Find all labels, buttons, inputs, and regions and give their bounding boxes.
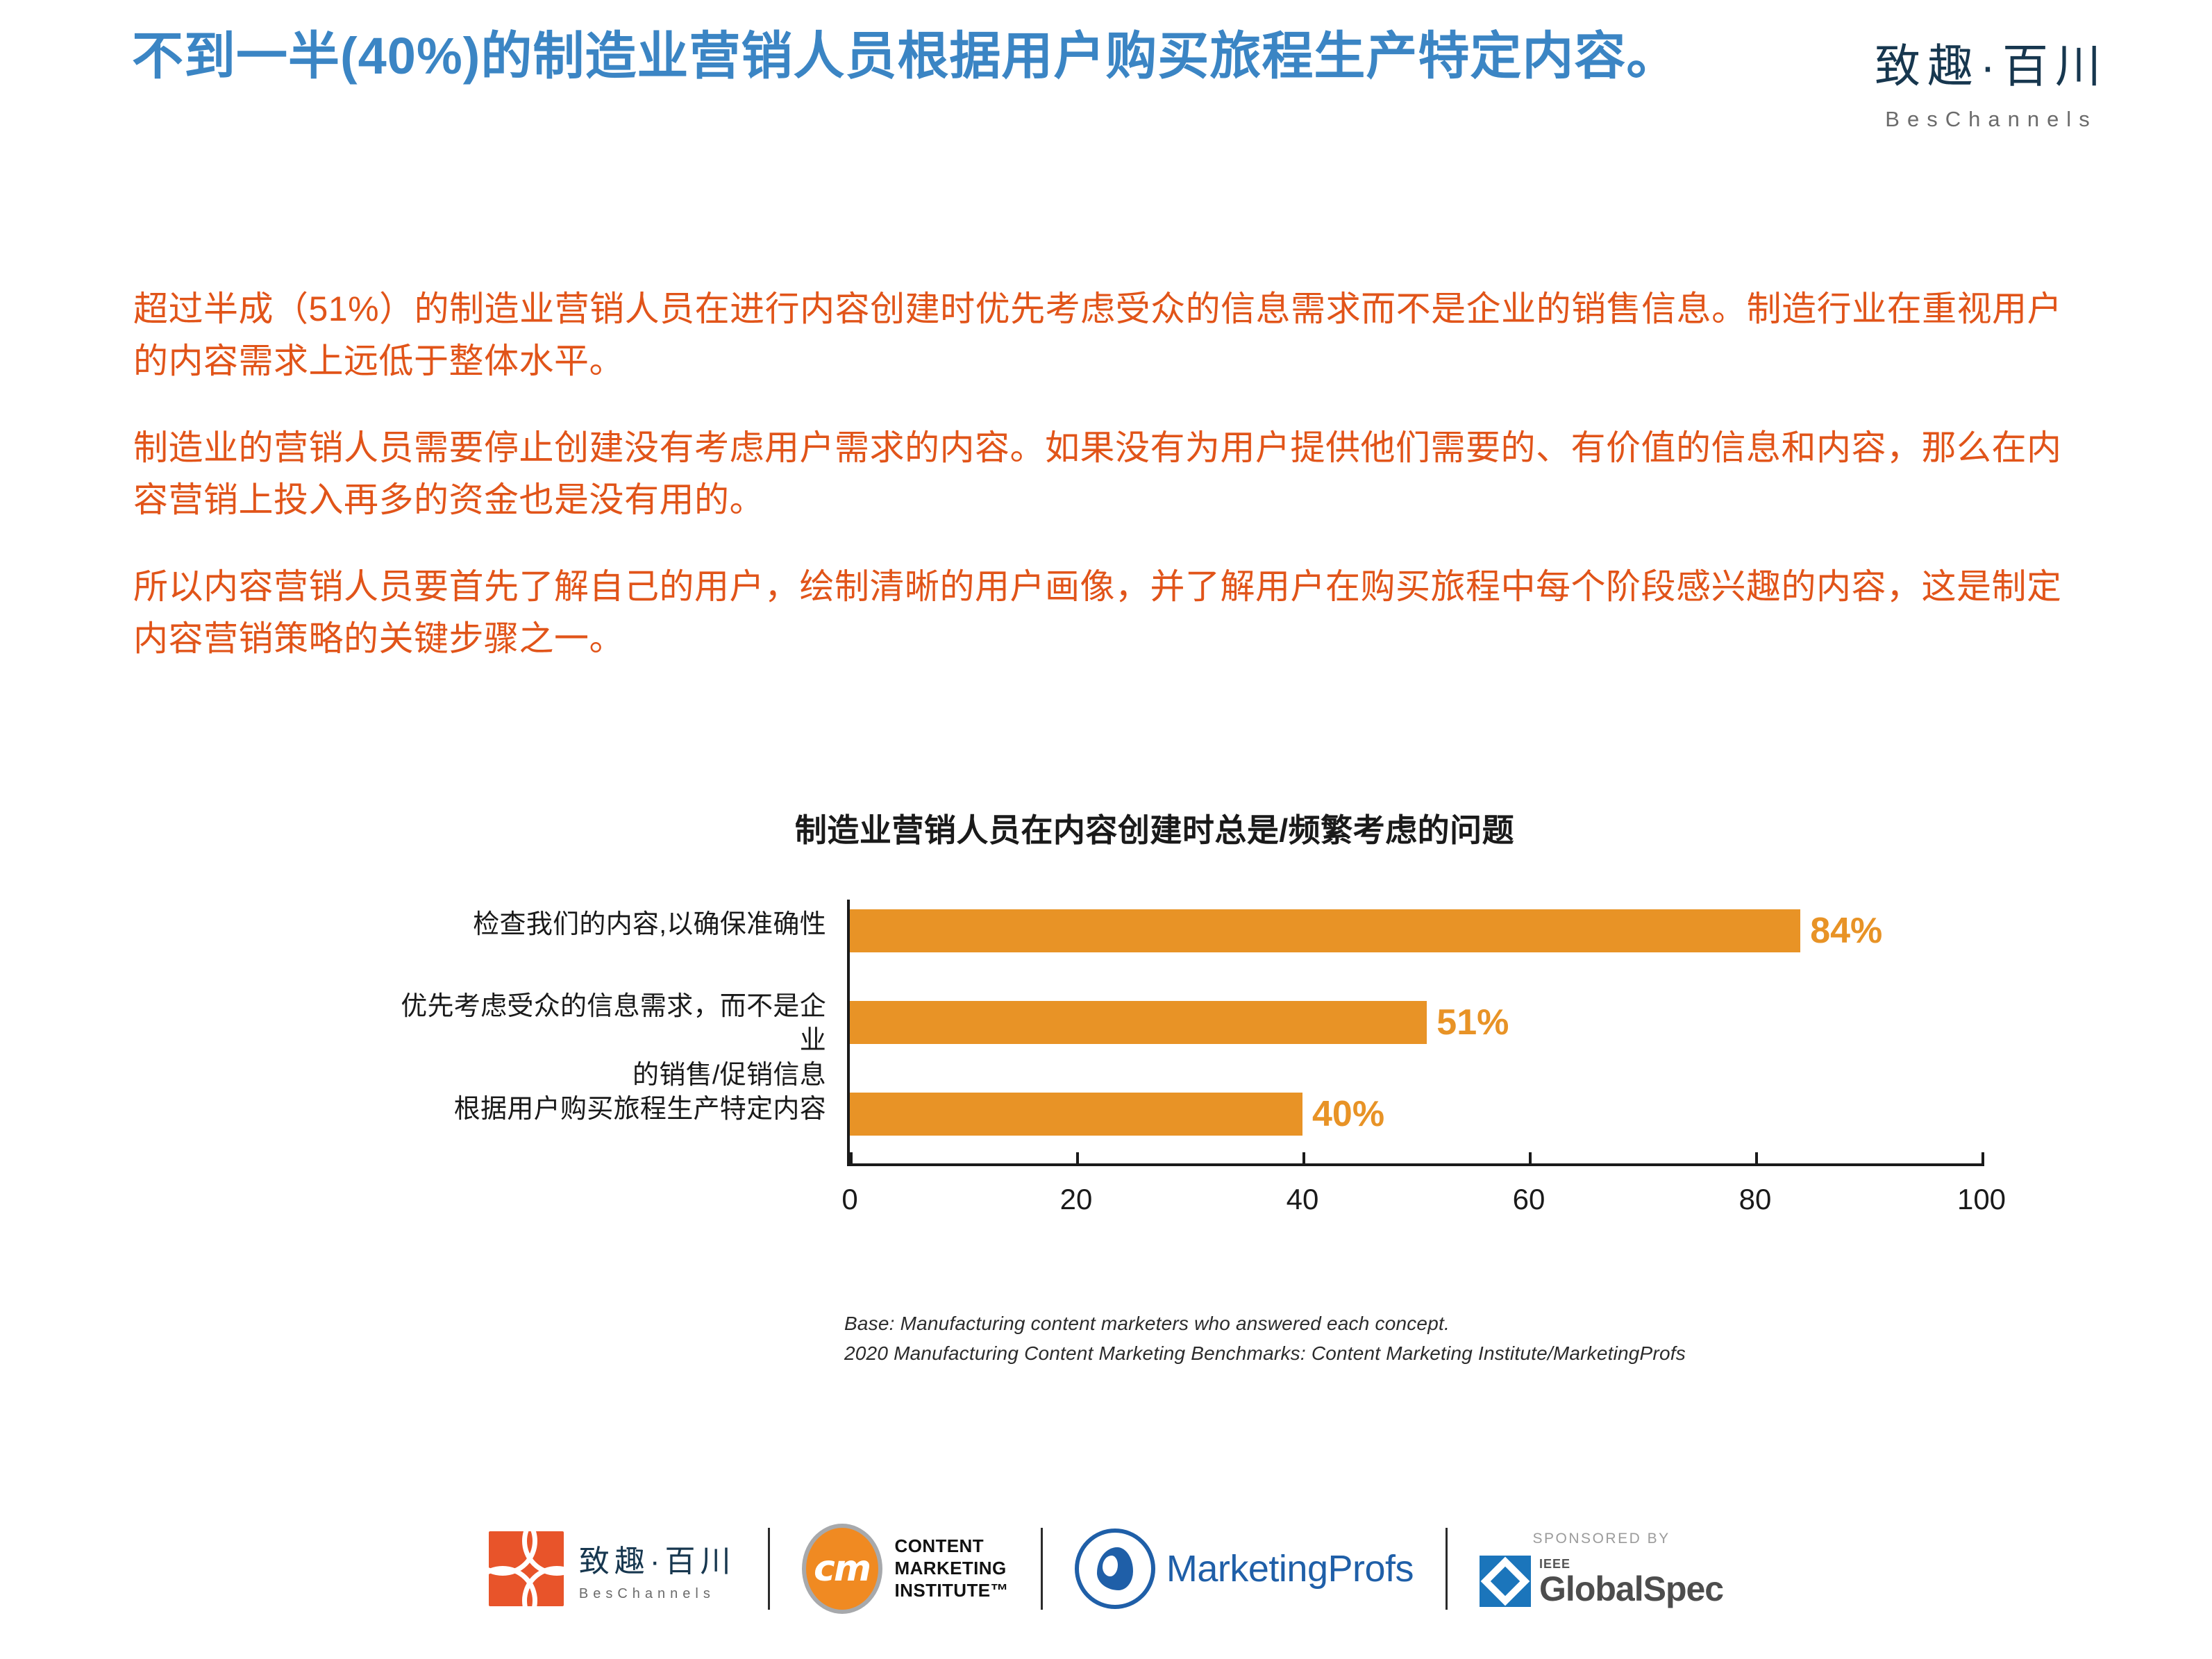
beschannels-logo-en: BesChannels (579, 1586, 736, 1602)
chart-bar-value: 51% (1436, 1001, 1509, 1044)
chart-x-tick (1302, 1152, 1305, 1166)
logo-content-marketing-institute: cm CONTENT MARKETING INSTITUTE™ (802, 1524, 1009, 1614)
chart-bar-value: 84% (1810, 909, 1882, 952)
chart-bar (850, 909, 1800, 952)
chart-category-label: 检查我们的内容,以确保准确性 (473, 908, 826, 942)
brand-logo: 致趣·百川 BesChannels (1811, 29, 2172, 132)
chart-category-label: 根据用户购买旅程生产特定内容 (454, 1093, 826, 1127)
body-copy: 超过半成（51%）的制造业营销人员在进行内容创建时优先考虑受众的信息需求而不是企… (133, 249, 2084, 665)
chart-bar-row: 51% (850, 1001, 1509, 1044)
chart-x-tick-label: 0 (841, 1183, 857, 1216)
cmi-line-2: MARKETING (895, 1558, 1009, 1580)
page-title: 不到一半(40%)的制造业营销人员根据用户购买旅程生产特定内容。 (132, 24, 1798, 90)
chart-x-tick-label: 80 (1739, 1183, 1772, 1216)
page-header: 不到一半(40%)的制造业营销人员根据用户购买旅程生产特定内容。 致趣·百川 B… (0, 0, 2212, 208)
chart-footnote: Base: Manufacturing content marketers wh… (844, 1308, 1686, 1369)
chart-category-labels: 检查我们的内容,以确保准确性 优先考虑受众的信息需求，而不是企业的销售/促销信息… (389, 900, 840, 1163)
chart-bar-row: 40% (850, 1093, 1384, 1136)
chart-bar (850, 1001, 1427, 1044)
footer-divider (768, 1528, 770, 1610)
brand-logo-cn: 致趣·百川 (1811, 29, 2172, 96)
beschannels-logo-cn: 致趣·百川 (579, 1536, 736, 1581)
footer-divider (1446, 1528, 1448, 1610)
bar-chart: 制造业营销人员在内容创建时总是/频繁考虑的问题 检查我们的内容,以确保准确性 优… (0, 805, 2212, 1198)
footnote-line-2: 2020 Manufacturing Content Marketing Ben… (844, 1338, 1686, 1368)
marketingprofs-label: MarketingProfs (1166, 1547, 1414, 1590)
logo-beschannels: 致趣·百川 BesChannels (489, 1531, 736, 1606)
cmi-line-1: CONTENT (895, 1535, 1009, 1558)
marketingprofs-bird-icon (1075, 1529, 1155, 1609)
logo-marketingprofs: MarketingProfs (1075, 1529, 1414, 1609)
chart-x-tick-label: 60 (1513, 1183, 1545, 1216)
paragraph-2: 制造业的营销人员需要停止创建没有考虑用户需求的内容。如果没有为用户提供他们需要的… (133, 422, 2084, 526)
chart-bar-value: 40% (1312, 1093, 1384, 1136)
chart-x-tick-label: 20 (1060, 1183, 1093, 1216)
chart-x-tick (1981, 1152, 1984, 1166)
chart-title: 制造业营销人员在内容创建时总是/频繁考虑的问题 (97, 805, 2212, 851)
footer-divider (1041, 1528, 1043, 1610)
cmi-line-3: INSTITUTE™ (895, 1580, 1009, 1602)
chart-bar-row: 84% (850, 909, 1882, 952)
paragraph-3: 所以内容营销人员要首先了解自己的用户，绘制清晰的用户画像，并了解用户在购买旅程中… (133, 561, 2084, 665)
chart-x-tick (1076, 1152, 1079, 1166)
paragraph-1: 超过半成（51%）的制造业营销人员在进行内容创建时优先考虑受众的信息需求而不是企… (133, 283, 2084, 387)
chart-category-label: 优先考虑受众的信息需求，而不是企业的销售/促销信息 (389, 990, 826, 1093)
chart-x-tick-label: 40 (1287, 1183, 1319, 1216)
globalspec-label: GlobalSpec (1539, 1572, 1723, 1606)
footer-logos: 致趣·百川 BesChannels cm CONTENT MARKETING I… (0, 1503, 2212, 1635)
sponsored-by-label: SPONSORED BY (1480, 1531, 1723, 1547)
chart-plot-area: 检查我们的内容,以确保准确性 优先考虑受众的信息需求，而不是企业的销售/促销信息… (389, 900, 2055, 1198)
globalspec-diamond-icon (1480, 1556, 1531, 1607)
chart-x-tick (850, 1152, 853, 1166)
cmi-mark-icon: cm (802, 1524, 882, 1614)
logo-globalspec: SPONSORED BY IEEE GlobalSpec (1480, 1531, 1723, 1607)
chart-axes: 84% 51% 40% 020406080100 (847, 900, 1981, 1166)
cmi-mark-label: cm (814, 1548, 870, 1590)
chart-bar (850, 1093, 1302, 1136)
chart-x-tick (1529, 1152, 1532, 1166)
chart-x-tick (1755, 1152, 1758, 1166)
chart-x-tick-label: 100 (1957, 1183, 2006, 1216)
brand-logo-en: BesChannels (1811, 107, 2172, 132)
beschannels-mark-icon (489, 1531, 564, 1606)
footnote-line-1: Base: Manufacturing content marketers wh… (844, 1308, 1686, 1338)
